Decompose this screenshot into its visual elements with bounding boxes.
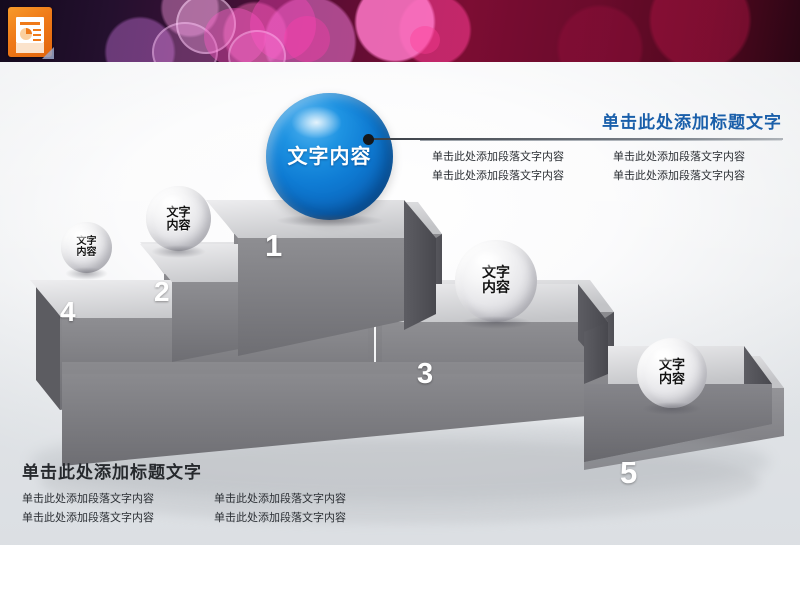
- slide-canvas: 1 2 3 4 5 文字 内容 文字 内容 文字 内容 文字 内容 文字内容 单…: [0, 0, 800, 599]
- textblock-right: 单击此处添加标题文字 单击此处添加段落文字内容 单击此处添加段落文字内容 单击此…: [420, 108, 782, 185]
- sphere-label-line2: 内容: [77, 248, 97, 259]
- right-title[interactable]: 单击此处添加标题文字: [420, 108, 782, 133]
- sphere-label-line2: 内容: [166, 219, 190, 232]
- bottom-paragraph-list: 单击此处添加段落文字内容 单击此处添加段落文字内容 单击此处添加段落文字内容 单…: [22, 489, 382, 527]
- doc-line: [20, 22, 40, 25]
- sphere-shadow: [151, 245, 207, 258]
- right-divider: [420, 140, 782, 141]
- sphere-label-line2: 内容: [482, 281, 510, 296]
- sphere-highlight: [291, 106, 342, 139]
- footer-bar: 第一PPT HTTP://WWW.1PPT.COM: [0, 545, 800, 599]
- step-number-5: 5: [620, 455, 637, 491]
- bottom-paragraph[interactable]: 单击此处添加段落文字内容: [22, 489, 202, 508]
- right-paragraph[interactable]: 单击此处添加段落文字内容: [420, 166, 601, 185]
- bottom-paragraph[interactable]: 单击此处添加段落文字内容: [202, 489, 382, 508]
- right-paragraph[interactable]: 单击此处添加段落文字内容: [601, 166, 782, 185]
- sphere-shadow: [275, 214, 384, 227]
- sphere-label-line1: 文字: [482, 266, 510, 281]
- step-number-2: 2: [154, 276, 170, 308]
- sphere-shadow: [642, 402, 702, 415]
- sphere-step-4[interactable]: 文字 内容: [61, 222, 112, 273]
- sphere-label-line1: 文字内容: [288, 146, 372, 167]
- sphere-label-line2: 内容: [659, 373, 685, 387]
- step-number-3: 3: [417, 358, 433, 391]
- right-paragraph-list: 单击此处添加段落文字内容 单击此处添加段落文字内容 单击此处添加段落文字内容 单…: [420, 147, 782, 185]
- doc-line: [33, 29, 41, 31]
- right-paragraph[interactable]: 单击此处添加段落文字内容: [601, 147, 782, 166]
- bokeh-circle: [410, 26, 440, 54]
- bottom-title[interactable]: 单击此处添加标题文字: [22, 458, 382, 483]
- step-number-4: 4: [60, 296, 76, 328]
- connector-dot: [363, 134, 374, 145]
- pie-chart-glyph: [20, 28, 32, 40]
- doc-line: [33, 34, 41, 36]
- sphere-step-1[interactable]: 文字内容: [266, 93, 393, 220]
- bottom-paragraph[interactable]: 单击此处添加段落文字内容: [202, 508, 382, 527]
- sphere-step-2[interactable]: 文字 内容: [146, 186, 211, 251]
- document-glyph: [16, 17, 44, 43]
- bokeh-circle: [284, 16, 330, 62]
- doc-line: [33, 39, 41, 41]
- bottom-paragraph[interactable]: 单击此处添加段落文字内容: [22, 508, 202, 527]
- top-banner: [0, 0, 800, 62]
- sphere-step-3[interactable]: 文字 内容: [455, 240, 537, 322]
- right-paragraph[interactable]: 单击此处添加段落文字内容: [420, 147, 601, 166]
- textblock-bottom: 单击此处添加标题文字 单击此处添加段落文字内容 单击此处添加段落文字内容 单击此…: [22, 458, 382, 527]
- sphere-label-line1: 文字: [77, 237, 97, 248]
- sphere-shadow: [461, 316, 532, 329]
- logo-fold: [16, 43, 44, 53]
- sphere-shadow: [65, 267, 109, 280]
- sphere-step-5[interactable]: 文字 内容: [637, 338, 707, 408]
- sphere-label-line1: 文字: [659, 359, 685, 373]
- step-number-1: 1: [265, 228, 282, 264]
- powerpoint-logo-icon: [8, 7, 52, 57]
- sphere-label-line1: 文字: [166, 206, 190, 219]
